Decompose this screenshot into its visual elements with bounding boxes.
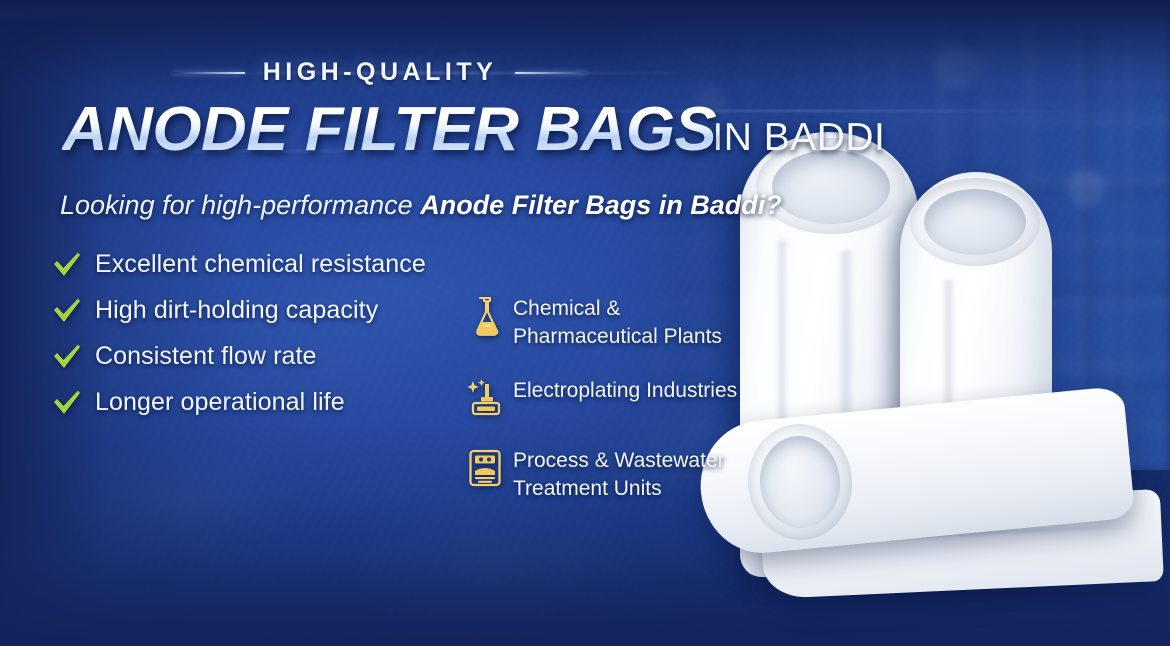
list-item-label: Excellent chemical resistance [95, 250, 426, 279]
eyebrow: HIGH-QUALITY [0, 58, 760, 87]
eyebrow-rule-right [515, 72, 587, 74]
list-item: Longer operational life [52, 388, 426, 417]
check-icon [52, 297, 82, 325]
subtitle-emphasis: Anode Filter Bags in Baddi? [420, 190, 782, 220]
check-icon [52, 251, 82, 279]
feature-list: Excellent chemical resistance High dirt-… [52, 250, 426, 417]
list-item-label: Electroplating Industries [513, 376, 737, 405]
subtitle-lead: Looking for high-performance [60, 190, 420, 220]
list-item: Excellent chemical resistance [52, 250, 426, 279]
flask-icon [466, 294, 504, 338]
list-item-label: Chemical & Pharmaceutical Plants [513, 294, 763, 350]
filter-bag-mesh-opening [924, 189, 1026, 255]
subtitle: Looking for high-performance Anode Filte… [60, 190, 782, 221]
list-item-label: Consistent flow rate [95, 342, 317, 371]
list-item-label: Longer operational life [95, 388, 345, 417]
list-item: Electroplating Industries [466, 376, 763, 420]
page-title-main: ANODE FILTER BAGS [62, 94, 716, 165]
list-item: High dirt-holding capacity [52, 296, 426, 325]
promotional-banner: HIGH-QUALITY ANODE FILTER BAGS IN BADDI … [0, 0, 1170, 646]
list-item-label: Process & Wastewater Treatment Units [513, 446, 763, 502]
list-item: Consistent flow rate [52, 342, 426, 371]
check-icon [52, 389, 82, 417]
check-icon [52, 343, 82, 371]
list-item-label: High dirt-holding capacity [95, 296, 378, 325]
wastewater-treatment-icon [466, 446, 504, 490]
page-title-suffix: IN BADDI [712, 116, 885, 160]
eyebrow-label: HIGH-QUALITY [263, 58, 498, 87]
electroplating-icon [466, 376, 504, 420]
eyebrow-rule-left [173, 72, 245, 74]
list-item: Chemical & Pharmaceutical Plants [466, 294, 763, 350]
application-list: Chemical & Pharmaceutical Plants Electro… [466, 294, 763, 503]
page-title: ANODE FILTER BAGS IN BADDI [62, 94, 885, 165]
list-item: Process & Wastewater Treatment Units [466, 446, 763, 502]
